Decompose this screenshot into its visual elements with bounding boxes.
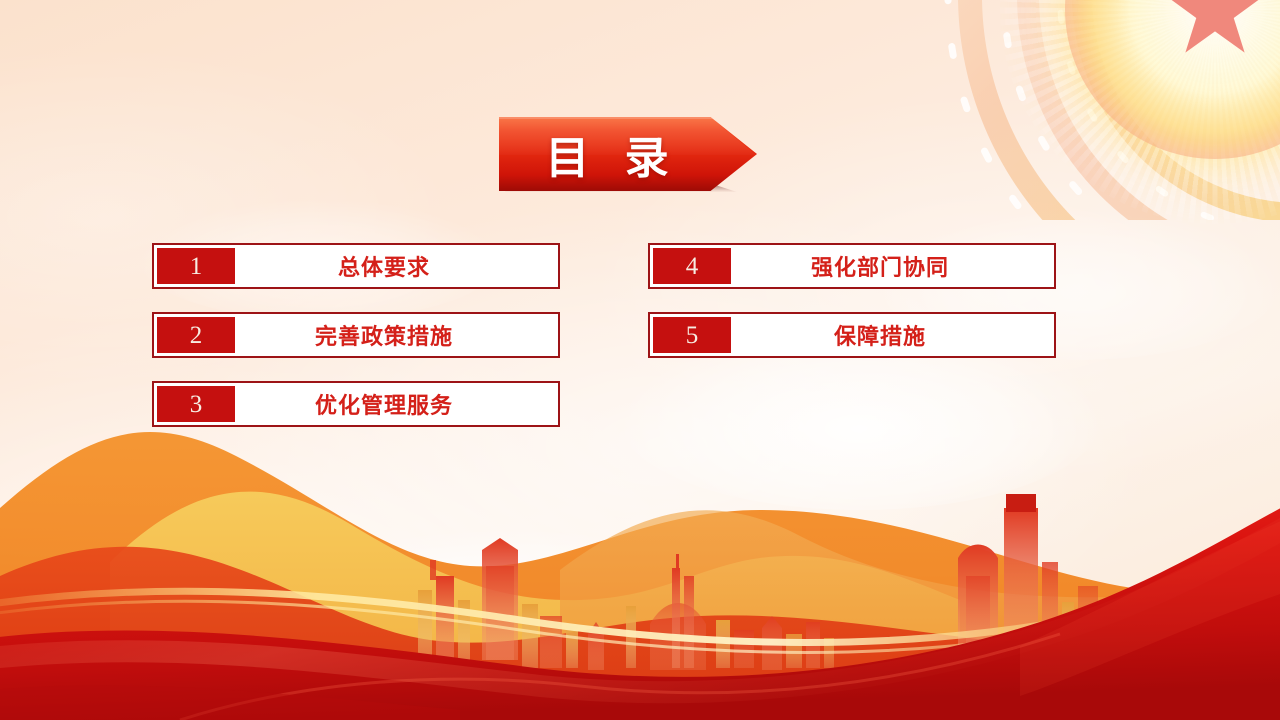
contents-menu: 1 总体要求 2 完善政策措施 3 优化管理服务 4 强化部门协同 5 保障措施 [152, 243, 1060, 435]
contents-item-number: 3 [157, 386, 235, 422]
contents-item-4[interactable]: 4 强化部门协同 [648, 243, 1056, 289]
contents-item-5[interactable]: 5 保障措施 [648, 312, 1056, 358]
title-banner: 目 录 [499, 117, 757, 191]
contents-item-2[interactable]: 2 完善政策措施 [152, 312, 560, 358]
contents-item-label: 总体要求 [235, 248, 555, 284]
contents-item-3[interactable]: 3 优化管理服务 [152, 381, 560, 427]
contents-item-label: 强化部门协同 [731, 248, 1051, 284]
contents-item-1[interactable]: 1 总体要求 [152, 243, 560, 289]
presentation-slide: 目 录 1 总体要求 2 完善政策措施 3 优化管理服务 4 强化部门协同 5 … [0, 0, 1280, 720]
page-title: 目 录 [499, 117, 757, 191]
contents-item-number: 1 [157, 248, 235, 284]
contents-item-number: 4 [653, 248, 731, 284]
contents-item-label: 完善政策措施 [235, 317, 555, 353]
contents-item-label: 优化管理服务 [235, 386, 555, 422]
contents-item-number: 2 [157, 317, 235, 353]
contents-item-label: 保障措施 [731, 317, 1051, 353]
contents-item-number: 5 [653, 317, 731, 353]
